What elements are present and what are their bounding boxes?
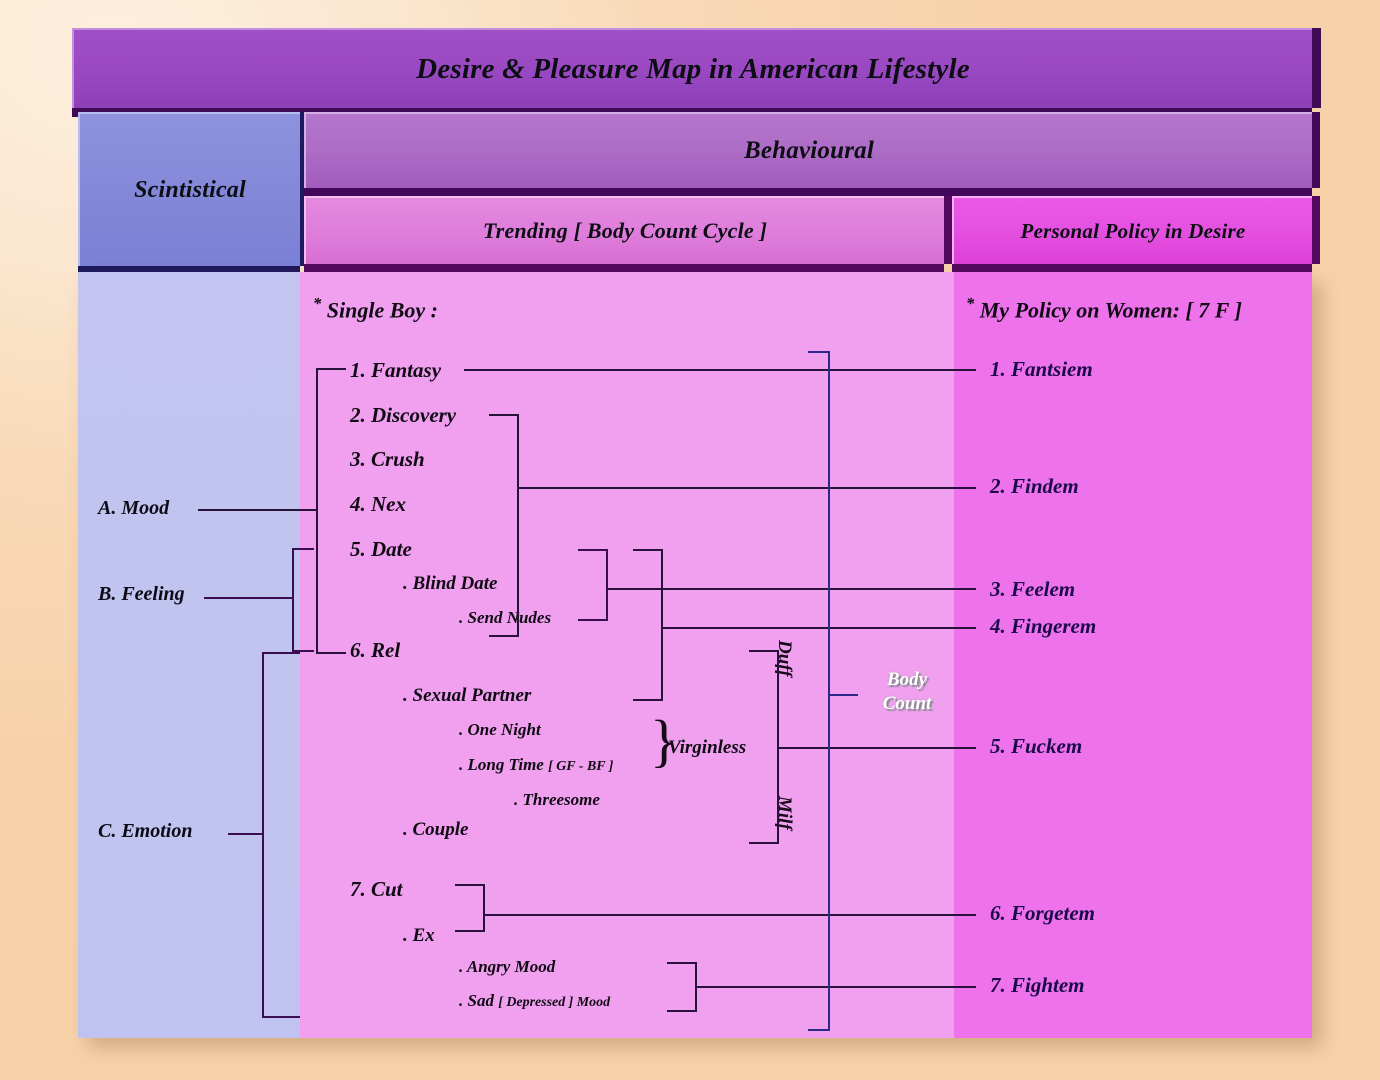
trend-item-long-time: . Long Time [ GF - BF ] [459, 755, 613, 775]
asterisk-icon-policy: * [966, 294, 974, 313]
single-boy-heading-label: Single Boy : [327, 297, 438, 322]
bracket-sad-bottom [667, 1010, 697, 1012]
connector-fingerem [661, 627, 976, 629]
bracket-emotion-v [262, 652, 264, 1018]
bracket-feeling-v [292, 548, 294, 652]
policy-item-fingerem: 4. Fingerem [990, 614, 1096, 639]
bracket-blinddate-top [578, 549, 608, 551]
connector-fightem [695, 986, 976, 988]
policy-item-forgetem: 6. Forgetem [990, 901, 1095, 926]
trend-item-angry-mood: . Angry Mood [459, 957, 555, 977]
scintistical-header: Scintistical [78, 112, 300, 266]
trend-item-couple: . Couple [403, 819, 468, 841]
policy-heading-label: My Policy on Women [980, 297, 1173, 322]
scintistical-label: Scintistical [134, 177, 246, 204]
trend-item-threesome: . Threesome [514, 790, 600, 810]
trend-item-sad-label: . Sad [459, 991, 494, 1010]
bracket-duffmilf-bottom [749, 842, 779, 844]
body-count-bracket-v [828, 351, 830, 1031]
bracket-emotion-bottom [262, 1016, 300, 1018]
connector-feeling [204, 597, 292, 599]
trend-item-send-nudes: . Send Nudes [459, 608, 551, 628]
sci-item-feeling: B. Feeling [98, 583, 185, 606]
bracket-sp-bottom [633, 699, 663, 701]
spine-fantasy-rel [316, 368, 318, 654]
bracket-blinddate-v [606, 549, 608, 621]
trend-item-cut: 7. Cut [350, 877, 403, 902]
bracket-ex-bottom [455, 930, 485, 932]
sci-item-emotion: C. Emotion [98, 820, 192, 843]
trending-label: Trending [ Body Count Cycle ] [483, 218, 767, 244]
policy-heading-suffix: : [ 7 F ] [1173, 297, 1242, 322]
spine-top-tick-fantasy [316, 368, 346, 370]
policy-heading: * My Policy on Women: [ 7 F ] [966, 294, 1242, 323]
body-count-label: Body Count [862, 668, 952, 716]
policy-item-feelem: 3. Feelem [990, 577, 1075, 602]
sci-item-mood: A. Mood [98, 497, 169, 520]
trend-item-nex: 4. Nex [350, 492, 406, 517]
trend-item-rel: 6. Rel [350, 638, 400, 663]
trend-item-long-time-suffix: [ GF - BF ] [548, 759, 613, 774]
bracket-feeling-top [292, 548, 314, 550]
trend-item-discovery: 2. Discovery [350, 403, 456, 428]
behavioural-header: Behavioural [304, 112, 1312, 188]
policy-item-fantsiem: 1. Fantsiem [990, 357, 1093, 382]
bracket-discovery-top [489, 414, 519, 416]
asterisk-icon: * [313, 294, 321, 313]
trend-item-sad-mood: . Sad [ Depressed ] Mood [459, 991, 610, 1011]
trend-item-fantasy: 1. Fantasy [350, 358, 441, 383]
body-count-tick [830, 694, 858, 696]
connector-emotion [228, 833, 264, 835]
bracket-date-bottom [489, 635, 519, 637]
trend-item-long-time-label: . Long Time [459, 755, 544, 774]
bracket-sp-top [633, 549, 663, 551]
policy-item-findem: 2. Findem [990, 474, 1079, 499]
diagram-title-bar: Desire & Pleasure Map in American Lifest… [72, 28, 1312, 108]
trend-item-sad-suffix: [ Depressed ] Mood [498, 995, 610, 1010]
scintistical-panel [78, 272, 300, 1038]
policy-item-fuckem: 5. Fuckem [990, 734, 1082, 759]
trend-item-sexual-partner: . Sexual Partner [403, 685, 531, 707]
connector-fuckem [777, 747, 976, 749]
bracket-duffmilf-top [749, 650, 779, 652]
diagram-canvas: Desire & Pleasure Map in American Lifest… [0, 0, 1380, 1080]
connector-fantasy-fantsiem [464, 369, 976, 371]
trend-item-crush: 3. Crush [350, 447, 425, 472]
personal-policy-header: Personal Policy in Desire [952, 196, 1312, 264]
trend-item-one-night: . One Night [459, 720, 541, 740]
spine-bottom-tick-rel [316, 652, 346, 654]
bracket-sendnudes-bottom [578, 619, 608, 621]
personal-policy-label: Personal Policy in Desire [1021, 219, 1246, 244]
bracket-discovery-date-v [517, 414, 519, 637]
trend-item-blind-date: . Blind Date [403, 573, 497, 595]
connector-group-findem [517, 487, 976, 489]
trend-item-date: 5. Date [350, 537, 412, 562]
bracket-sp-v [661, 549, 663, 701]
behavioural-label: Behavioural [744, 137, 874, 165]
connector-mood-to-spine [198, 509, 316, 511]
bracket-cut-top [455, 884, 485, 886]
bracket-emotion-top [262, 652, 300, 654]
bracket-cut-v [483, 884, 485, 932]
trend-item-ex: . Ex [403, 925, 435, 947]
group-label-virginless: Virginless [668, 737, 746, 759]
single-boy-heading: * Single Boy : [313, 294, 438, 323]
diagram-title: Desire & Pleasure Map in American Lifest… [416, 53, 970, 86]
policy-item-fightem: 7. Fightem [990, 973, 1085, 998]
bracket-angry-top [667, 962, 697, 964]
connector-forgetem [483, 914, 976, 916]
body-count-bracket-bottom [808, 1029, 830, 1031]
trending-header: Trending [ Body Count Cycle ] [304, 196, 944, 264]
body-count-bracket-top [808, 351, 830, 353]
